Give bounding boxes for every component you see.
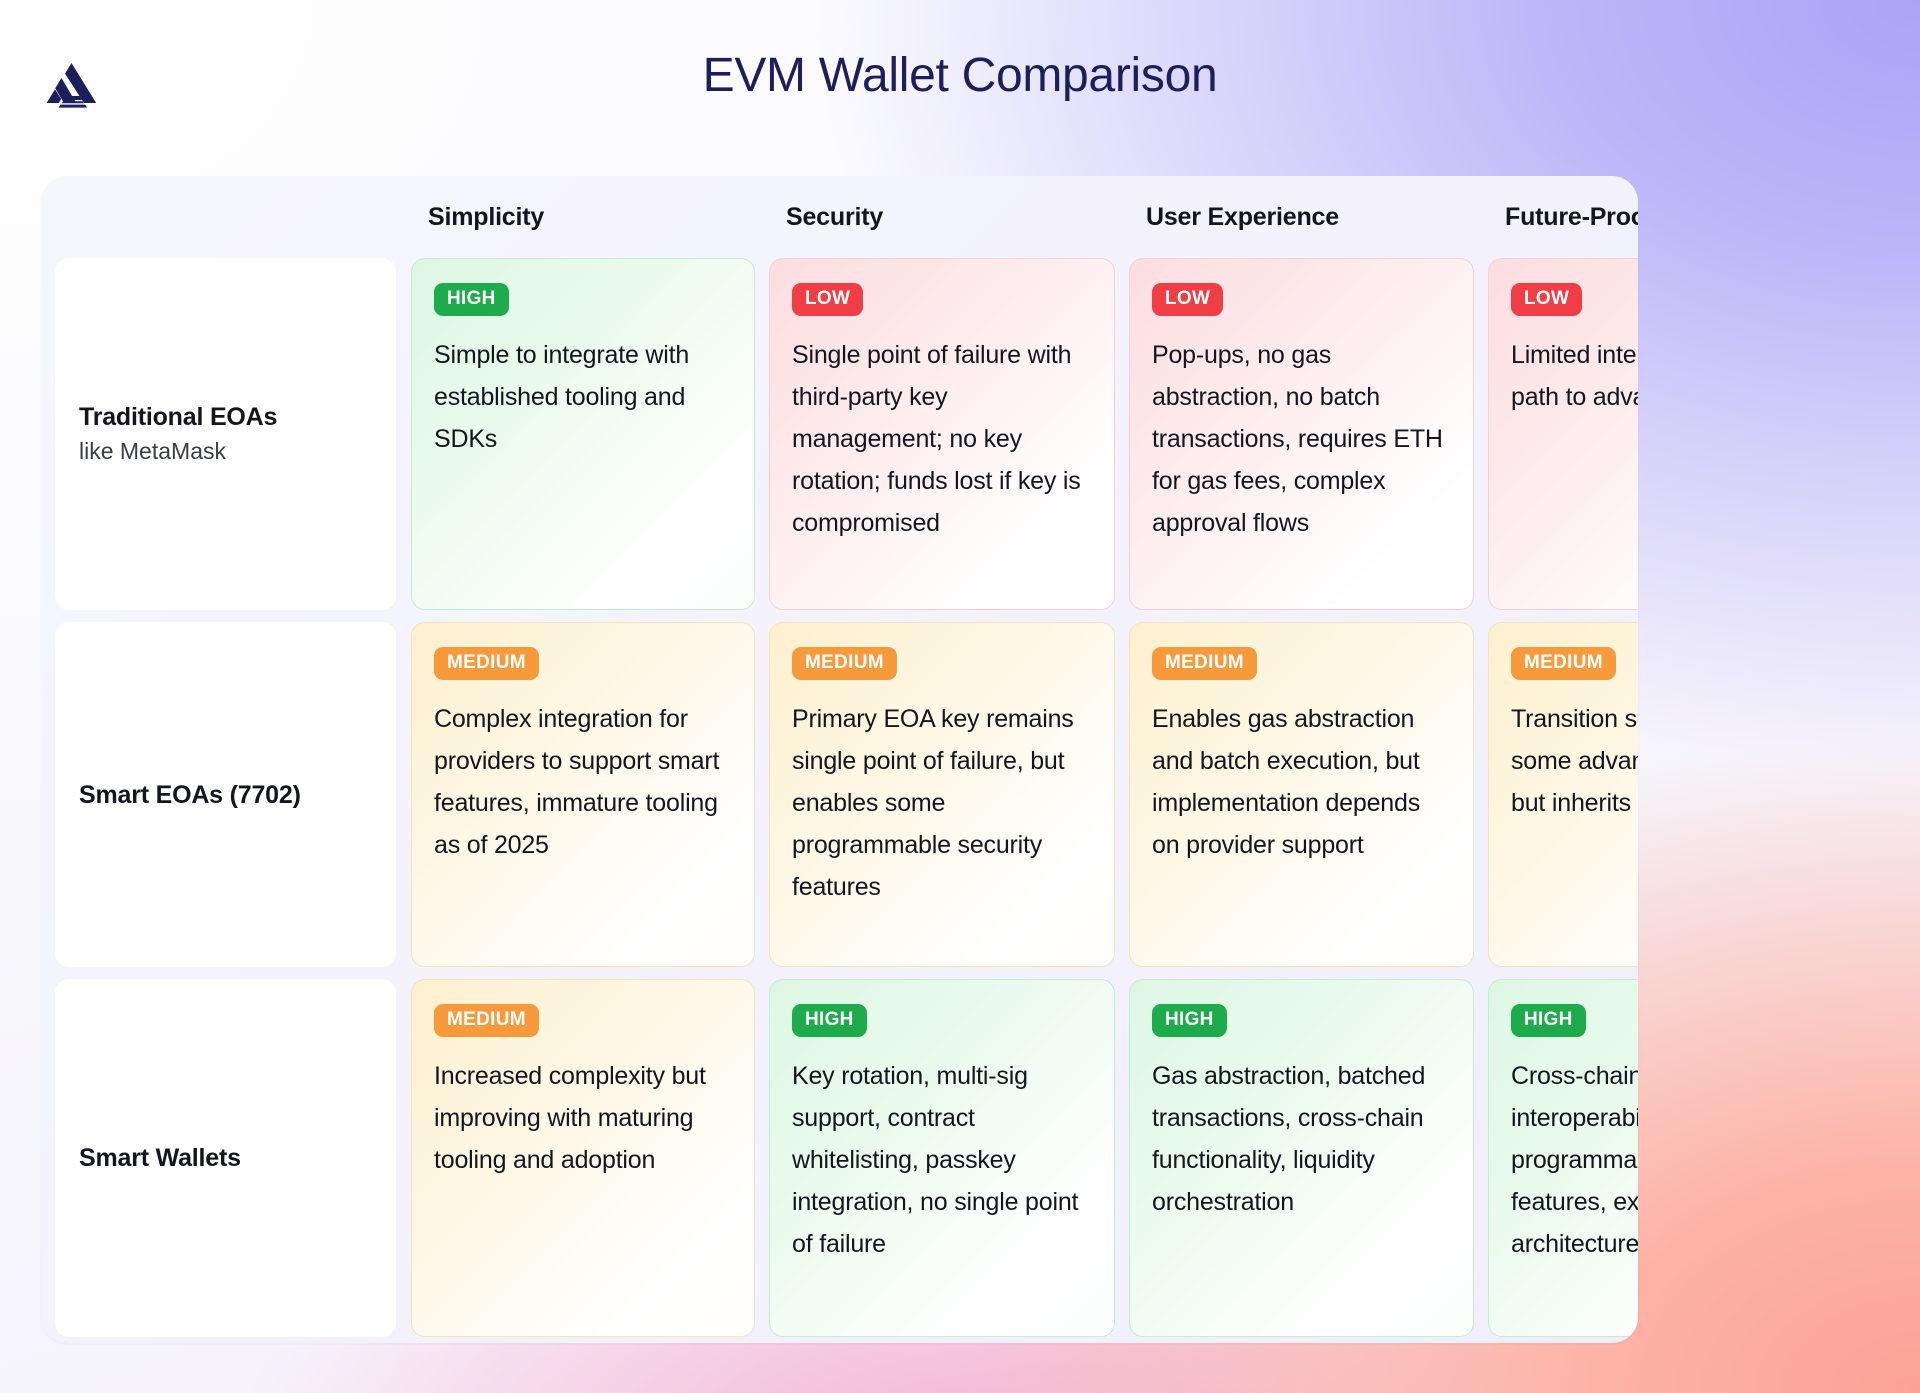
column-header-user-experience: User Experience <box>1122 176 1481 252</box>
status-badge: MEDIUM <box>792 647 897 680</box>
row-title: Smart EOAs (7702) <box>79 779 396 811</box>
status-badge: LOW <box>792 283 863 316</box>
status-badge: LOW <box>1152 283 1223 316</box>
status-badge: HIGH <box>1511 1004 1586 1037</box>
column-header-future-proof: Future-Proof <box>1481 176 1638 252</box>
cell-text: Enables gas abstraction and batch execut… <box>1152 698 1451 866</box>
table-cell: MEDIUM Increased complexity but improvin… <box>411 979 755 1337</box>
status-badge: MEDIUM <box>434 647 539 680</box>
page-title: EVM Wallet Comparison <box>0 46 1920 106</box>
cell-text: Limited interoperability; no path to adv… <box>1511 334 1638 418</box>
cell-text: Key rotation, multi-sig support, contrac… <box>792 1055 1092 1265</box>
cell-text: Increased complexity but improving with … <box>434 1055 732 1181</box>
column-header-security: Security <box>762 176 1122 252</box>
table-cell: MEDIUM Enables gas abstraction and batch… <box>1129 622 1474 967</box>
table-cell: MEDIUM Primary EOA key remains single po… <box>769 622 1115 967</box>
comparison-table-panel: Simplicity Security User Experience Futu… <box>41 176 1638 1343</box>
cell-text: Transition solution with some advanced f… <box>1511 698 1638 824</box>
status-badge: HIGH <box>434 283 509 316</box>
row-subtitle: like MetaMask <box>79 435 396 467</box>
table-cell: HIGH Simple to integrate with establishe… <box>411 258 755 610</box>
table-cell: HIGH Key rotation, multi-sig support, co… <box>769 979 1115 1337</box>
table-cell: MEDIUM Complex integration for providers… <box>411 622 755 967</box>
table-cell: MEDIUM Transition solution with some adv… <box>1488 622 1638 967</box>
cell-text: Complex integration for providers to sup… <box>434 698 732 866</box>
table-cell: HIGH Cross-chain interoperability, progr… <box>1488 979 1638 1337</box>
page-root: EVM Wallet Comparison Simplicity Securit… <box>0 0 1920 1393</box>
cell-text: Cross-chain interoperability, programmab… <box>1511 1055 1638 1265</box>
table-cell: LOW Limited interoperability; no path to… <box>1488 258 1638 610</box>
status-badge: MEDIUM <box>1152 647 1257 680</box>
cell-text: Single point of failure with third-party… <box>792 334 1092 544</box>
status-badge: LOW <box>1511 283 1582 316</box>
status-badge: HIGH <box>1152 1004 1227 1037</box>
cell-text: Simple to integrate with established too… <box>434 334 732 460</box>
cell-text: Primary EOA key remains single point of … <box>792 698 1092 908</box>
row-title: Smart Wallets <box>79 1142 396 1174</box>
status-badge: MEDIUM <box>434 1004 539 1037</box>
grid-corner-cell <box>41 176 404 252</box>
row-label-smart-eoas-7702: Smart EOAs (7702) <box>55 622 396 967</box>
comparison-grid: Simplicity Security User Experience Futu… <box>41 176 1638 1343</box>
column-header-simplicity: Simplicity <box>404 176 762 252</box>
cell-text: Gas abstraction, batched transactions, c… <box>1152 1055 1451 1223</box>
row-label-smart-wallets: Smart Wallets <box>55 979 396 1337</box>
row-title: Traditional EOAs <box>79 401 396 433</box>
status-badge: HIGH <box>792 1004 867 1037</box>
table-cell: LOW Pop-ups, no gas abstraction, no batc… <box>1129 258 1474 610</box>
table-cell: LOW Single point of failure with third-p… <box>769 258 1115 610</box>
row-label-traditional-eoas: Traditional EOAs like MetaMask <box>55 258 396 610</box>
table-cell: HIGH Gas abstraction, batched transactio… <box>1129 979 1474 1337</box>
status-badge: MEDIUM <box>1511 647 1616 680</box>
cell-text: Pop-ups, no gas abstraction, no batch tr… <box>1152 334 1451 544</box>
page-header: EVM Wallet Comparison <box>0 0 1920 176</box>
